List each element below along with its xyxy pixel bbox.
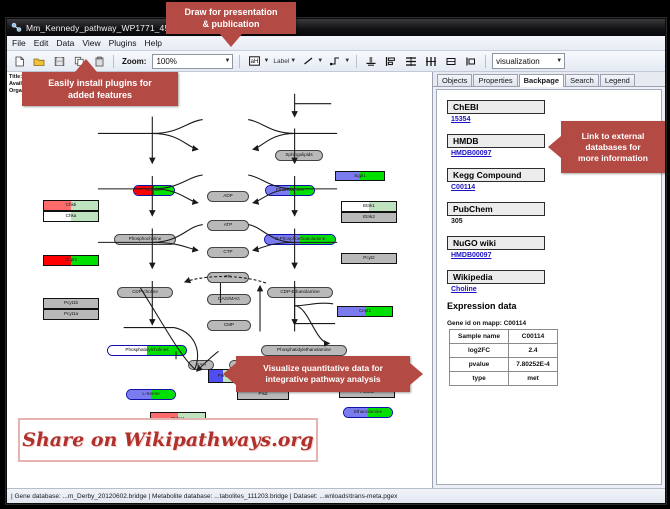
backpage-section: PubChem305 — [447, 199, 661, 225]
backpage-value-pubchem: 305 — [451, 218, 661, 225]
node-label: Chkb — [66, 203, 77, 208]
node-label: Choline — [146, 188, 162, 193]
node-label: L-Serine — [142, 392, 159, 397]
interaction-icon[interactable] — [327, 53, 343, 69]
node-label: Phosphatidylethanolamine — [277, 348, 331, 353]
expr-value: met — [509, 372, 558, 386]
toolbar-divider — [356, 55, 357, 68]
expr-key: log2FC — [450, 344, 509, 358]
menu-item-edit[interactable]: Edit — [34, 38, 49, 48]
node-label: PPi — [224, 275, 231, 280]
line-icon[interactable] — [300, 53, 316, 69]
chevron-down-icon: ▼ — [556, 58, 562, 64]
new-document-icon[interactable] — [11, 53, 27, 69]
tab-properties[interactable]: Properties — [473, 74, 517, 86]
menu-item-view[interactable]: View — [82, 38, 100, 48]
node-label: Chka — [66, 214, 77, 219]
expression-data-heading: Expression data — [447, 301, 661, 311]
label-dropdown[interactable]: Label ▼ — [273, 58, 296, 65]
expr-value: C00114 — [509, 330, 558, 344]
expr-value: 7.80252E-4 — [509, 358, 558, 372]
node-label: CTP — [223, 250, 232, 255]
callout-draw-for-presentation: Draw for presentation& publication — [166, 2, 296, 34]
node-label: Sgpl1 — [354, 174, 366, 179]
backpage-link-nugo-wiki[interactable]: HMDB00097 — [451, 252, 661, 259]
stack-vertical-icon[interactable] — [403, 53, 419, 69]
gene-id-label: Gene id on mapp: C00114 — [447, 320, 661, 327]
backpage-link-kegg-compound[interactable]: C00114 — [451, 184, 661, 191]
expr-value: 2.4 — [509, 344, 558, 358]
table-row: Sample nameC00114 — [450, 330, 558, 344]
title-bar: Mm_Kennedy_pathway_WP1771_45176.gpml — [7, 19, 665, 36]
open-folder-icon[interactable] — [31, 53, 47, 69]
toolbar-divider — [239, 55, 240, 68]
chevron-down-icon[interactable]: ▼ — [263, 58, 269, 64]
node-label: ATP — [224, 223, 233, 228]
datanode-dropdown[interactable]: aH ▼ — [246, 53, 269, 69]
visualization-value: visualization — [496, 57, 540, 66]
backpage-header-chebi: ChEBI — [447, 100, 545, 114]
zoom-label: Zoom: — [122, 57, 146, 66]
align-left-icon[interactable] — [383, 53, 399, 69]
node-label: CDP-choline — [132, 290, 158, 295]
menu-item-plugins[interactable]: Plugins — [109, 38, 137, 48]
expr-key: Sample name — [450, 330, 509, 344]
backpage-section: WikipediaCholine — [447, 267, 661, 293]
node-label: DAG/MAG — [218, 297, 240, 302]
line-dropdown[interactable]: ▼ — [300, 53, 323, 69]
datanode-icon[interactable]: aH — [246, 53, 262, 69]
node-label: O-Phosphoethanolamine — [275, 237, 326, 242]
node-label: Cept1 — [359, 309, 371, 314]
table-row: typemet — [450, 372, 558, 386]
backpage-header-nugo-wiki: NuGO wiki — [447, 236, 545, 250]
table-row: pvalue7.80252E-4 — [450, 358, 558, 372]
align-bottom-icon[interactable] — [363, 53, 379, 69]
backpage-header-wikipedia: Wikipedia — [447, 270, 545, 284]
tool-bar: Zoom: 100% ▼ aH ▼ Label ▼ ▼ — [7, 51, 665, 72]
callout-draw-arrow — [220, 34, 242, 47]
tab-backpage[interactable]: Backpage — [519, 74, 564, 87]
toolbar-divider — [485, 55, 486, 68]
node-label: Phosphocholine — [129, 237, 162, 242]
backpage-section: NuGO wikiHMDB00097 — [447, 233, 661, 259]
visualization-combobox[interactable]: visualization ▼ — [492, 53, 565, 69]
node-label: Pcyt1a — [64, 312, 78, 317]
backpage-header-pubchem: PubChem — [447, 202, 545, 216]
chevron-down-icon[interactable]: ▼ — [344, 58, 350, 64]
callout-visualize-arrow-right — [410, 363, 423, 385]
node-label: Ethanolamine — [276, 188, 304, 193]
toolbar-divider — [113, 55, 114, 68]
menu-item-data[interactable]: Data — [56, 38, 74, 48]
callout-visualize-arrow-left — [223, 363, 236, 385]
node-label: Pcyt2 — [363, 256, 375, 261]
node-label: Sphingolipids — [285, 153, 312, 158]
callout-visualize-quantitative-data: Visualize quantitative data forintegrati… — [236, 356, 410, 392]
chevron-down-icon[interactable]: ▼ — [290, 58, 296, 64]
callout-plugins-arrow — [75, 59, 97, 72]
backpage-link-wikipedia[interactable]: Choline — [451, 286, 661, 293]
zoom-combobox[interactable]: 100% ▼ — [152, 54, 233, 69]
node-label: Pcyt1b — [64, 301, 78, 306]
label-tool-label: Label — [273, 58, 289, 65]
node-label: Phosphatidylcholines — [125, 348, 168, 353]
save-disk-icon[interactable] — [51, 53, 67, 69]
side-panel-tabs: Objects Properties Backpage Search Legen… — [433, 72, 665, 87]
node-label: SAH — [196, 363, 205, 368]
menu-bar: File Edit Data View Plugins Help — [7, 36, 665, 51]
menu-item-help[interactable]: Help — [145, 38, 162, 48]
tab-legend[interactable]: Legend — [600, 74, 635, 86]
status-bar: | Gene database: ...m_Derby_20120602.bri… — [7, 488, 665, 503]
screenshot-root: Mm_Kennedy_pathway_WP1771_45176.gpml Fil… — [0, 0, 670, 509]
common-width-icon[interactable] — [443, 53, 459, 69]
node-label: Etnk1 — [363, 204, 375, 209]
status-bar-text: | Gene database: ...m_Derby_20120602.bri… — [11, 493, 397, 500]
backpage-header-kegg-compound: Kegg Compound — [447, 168, 545, 182]
svg-text:aH: aH — [251, 59, 259, 65]
node-label: Chpt1 — [65, 258, 77, 263]
node-label: Pisd — [259, 392, 268, 397]
expression-data-table: Sample nameC00114log2FC2.4pvalue7.80252E… — [449, 329, 558, 386]
table-row: log2FC2.4 — [450, 344, 558, 358]
tab-objects[interactable]: Objects — [437, 74, 472, 86]
callout-share-on-wikipathways: Share on Wikipathways.org — [18, 418, 318, 462]
backpage-header-hmdb: HMDB — [447, 134, 545, 148]
expr-key: pvalue — [450, 358, 509, 372]
distribute-horizontal-icon[interactable] — [423, 53, 439, 69]
chevron-down-icon: ▼ — [224, 58, 230, 64]
node-label: Ethanolamine — [354, 410, 382, 415]
backpage-section: ChEBI15354 — [447, 97, 661, 123]
tab-search[interactable]: Search — [565, 74, 599, 86]
pathvisio-app-icon — [11, 22, 22, 33]
chevron-down-icon[interactable]: ▼ — [317, 58, 323, 64]
callout-easily-install-plugins: Easily install plugins foradded features — [22, 72, 178, 106]
common-height-icon[interactable] — [463, 53, 479, 69]
zoom-value: 100% — [156, 57, 176, 66]
menu-item-file[interactable]: File — [12, 38, 26, 48]
node-label: CDP-Ethanolamine — [280, 290, 319, 295]
callout-link-to-external-databases: Link to externaldatabases formore inform… — [561, 121, 665, 173]
node-label: Etnk2 — [363, 215, 375, 220]
callout-link-arrow — [548, 136, 561, 158]
interaction-dropdown[interactable]: ▼ — [327, 53, 350, 69]
expr-key: type — [450, 372, 509, 386]
node-label: CMP — [224, 323, 234, 328]
node-label: ADP — [223, 194, 232, 199]
